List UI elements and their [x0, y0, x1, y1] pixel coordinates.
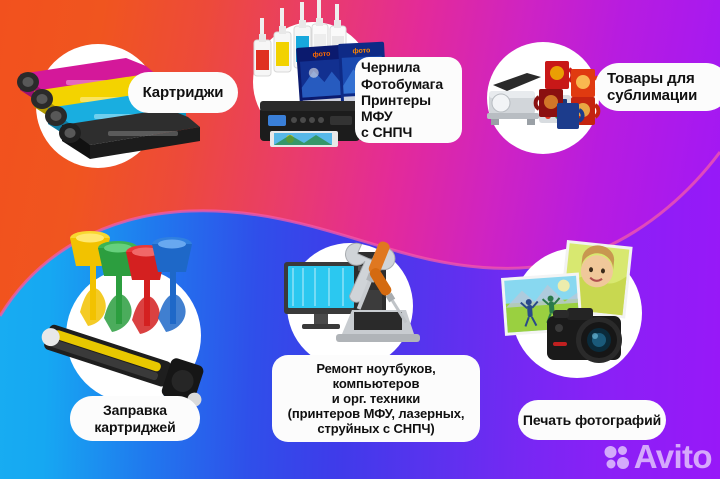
avito-logo-icon: [604, 444, 630, 470]
label-refill[interactable]: Заправка картриджей: [70, 396, 200, 441]
label-ink-printers-text: Чернила Фотобумага Принтеры МФУ с СНПЧ: [361, 59, 462, 140]
label-sublimation-text: Товары для сублимации: [607, 70, 697, 105]
avito-watermark: Avito: [604, 440, 712, 473]
artwork-refill: [52, 222, 227, 387]
label-photo-print[interactable]: Печать фотографий: [518, 400, 666, 440]
label-repair-text: Ремонт ноутбуков, компьютеров и орг. тех…: [288, 361, 465, 436]
promo-banner: фото фото: [0, 0, 720, 479]
label-photo-print-text: Печать фотографий: [523, 412, 661, 428]
label-refill-text: Заправка картриджей: [94, 402, 175, 434]
svg-text:фото: фото: [312, 51, 330, 59]
label-repair[interactable]: Ремонт ноутбуков, компьютеров и орг. тех…: [272, 355, 480, 442]
label-cartridges-text: Картриджи: [143, 84, 224, 101]
avito-wordmark: Avito: [634, 440, 712, 473]
label-sublimation[interactable]: Товары для сублимации: [595, 63, 720, 111]
artwork-repair: [282, 238, 432, 366]
artwork-photo-print: [495, 238, 655, 373]
svg-text:фото: фото: [352, 47, 370, 55]
artwork-sublimation: [483, 55, 618, 150]
label-ink-printers[interactable]: Чернила Фотобумага Принтеры МФУ с СНПЧ: [355, 57, 462, 143]
label-cartridges[interactable]: Картриджи: [128, 72, 238, 113]
